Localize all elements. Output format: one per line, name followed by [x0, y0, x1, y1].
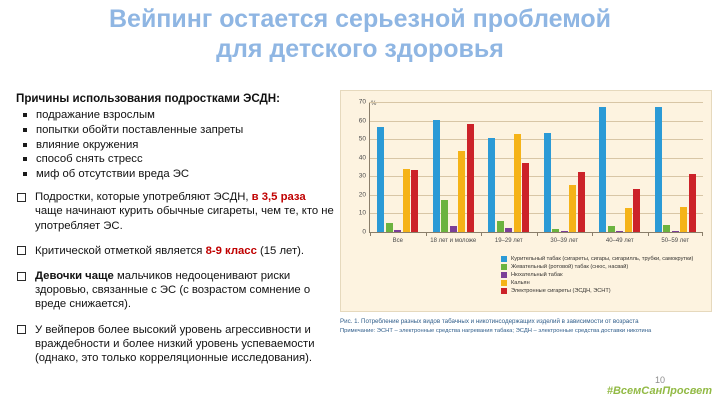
bar-group	[537, 103, 593, 232]
x-axis-tick	[702, 232, 703, 236]
bar	[488, 138, 495, 232]
list-item: миф об отсутствии вреда ЭС	[16, 167, 334, 181]
square-bullet-icon	[23, 128, 27, 132]
bar	[599, 107, 606, 232]
y-axis-tick-label: 30	[359, 173, 366, 180]
bar-group	[481, 103, 537, 232]
bar	[394, 230, 401, 232]
square-bullet-icon	[23, 172, 27, 176]
key-point-1-text-a: Подростки, которые употребляют ЭСДН,	[35, 191, 252, 203]
bar	[552, 229, 559, 232]
key-point-4-text: У вейперов более высокий уровень агресси…	[35, 324, 315, 364]
x-axis-tick-label: Все	[370, 238, 426, 250]
key-point-1-highlight: в 3,5 раза	[252, 191, 306, 203]
chart-legend: Курительный табак (сигареты, сигары, сиг…	[501, 256, 693, 296]
legend-swatch-icon	[501, 272, 507, 278]
bar-group	[592, 103, 648, 232]
square-bullet-icon	[23, 143, 27, 147]
bar	[608, 226, 615, 232]
page-title-line-1: Вейпинг остается серьезной проблемой	[0, 4, 720, 34]
key-point-3-emphasis: Девочки чаще	[35, 270, 114, 282]
x-axis-tick-labels: Все18 лет и моложе19–29 лет30–39 лет40–4…	[370, 238, 703, 250]
list-item: подражание взрослым	[16, 108, 334, 122]
bar	[467, 124, 474, 232]
x-axis-tick	[481, 232, 482, 236]
x-axis-tick	[537, 232, 538, 236]
legend-item: Электронные сигареты (ЭСДН, ЭСНТ)	[501, 288, 693, 294]
bar	[505, 228, 512, 232]
reasons-list: подражание взрослым попытки обойти поста…	[16, 108, 334, 181]
page-number: 10	[655, 375, 665, 385]
legend-item: Курительный табак (сигареты, сигары, сиг…	[501, 256, 693, 262]
bar	[689, 174, 696, 232]
checkbox-bullet-icon	[17, 246, 26, 255]
bar	[403, 169, 410, 232]
bar	[625, 208, 632, 232]
content-text-column: Причины использования подростками ЭСДН: …	[16, 92, 334, 376]
chart-figure-panel: % 010203040506070 Все18 лет и моложе19–2…	[340, 90, 712, 312]
y-axis-tick-label: 70	[359, 99, 366, 106]
legend-item-label: Нюхательный табак	[511, 272, 563, 278]
y-axis-tick-label: 50	[359, 136, 366, 143]
legend-swatch-icon	[501, 264, 507, 270]
legend-item: Кальян	[501, 280, 693, 286]
bar-group	[370, 103, 426, 232]
bar	[561, 231, 568, 232]
bar	[433, 120, 440, 232]
page-title: Вейпинг остается серьезной проблемой для…	[0, 4, 720, 64]
key-point-2-text-b: (15 лет).	[257, 245, 304, 257]
watermark-hashtag: #ВсемСанПросвет	[607, 385, 712, 397]
key-point-2: Критической отметкой является 8-9 класс …	[16, 244, 334, 258]
y-axis-tick-label: 60	[359, 117, 366, 124]
figure-caption-line-1: Рис. 1. Потребление разных видов табачны…	[340, 318, 718, 327]
bar	[522, 163, 529, 232]
bar	[411, 170, 418, 232]
bar	[450, 226, 457, 232]
square-bullet-icon	[23, 113, 27, 117]
y-axis-tick-label: 10	[359, 210, 366, 217]
bar	[544, 133, 551, 233]
key-point-1: Подростки, которые употребляют ЭСДН, в 3…	[16, 190, 334, 233]
page-title-line-2: для детского здоровья	[0, 34, 720, 64]
y-axis-tick-label: 20	[359, 191, 366, 198]
checkbox-bullet-icon	[17, 272, 26, 281]
legend-item-label: Курительный табак (сигареты, сигары, сиг…	[511, 256, 693, 262]
legend-item-label: Кальян	[511, 280, 530, 286]
bar-group	[426, 103, 482, 232]
bar	[672, 231, 679, 232]
key-point-2-highlight: 8-9 класс	[206, 245, 257, 257]
bar-group	[648, 103, 704, 232]
key-point-4: У вейперов более высокий уровень агресси…	[16, 323, 334, 366]
bar	[514, 134, 521, 232]
x-axis-tick-label: 40–49 лет	[592, 238, 648, 250]
y-axis-tick-label: 0	[362, 229, 366, 236]
bar	[458, 151, 465, 232]
list-item-label: миф об отсутствии вреда ЭС	[36, 168, 189, 180]
bar	[633, 189, 640, 232]
checkbox-bullet-icon	[17, 193, 26, 202]
reasons-heading: Причины использования подростками ЭСДН:	[16, 92, 334, 106]
bar	[386, 223, 393, 232]
chart-plot-area: 010203040506070	[369, 103, 703, 233]
legend-swatch-icon	[501, 256, 507, 262]
x-axis-tick-label: 50–59 лет	[648, 238, 704, 250]
figure-caption-note: Примечание: ЭСНТ – электронные средства …	[340, 327, 718, 336]
checkbox-bullet-icon	[17, 325, 26, 334]
bar	[569, 185, 576, 232]
bar	[680, 207, 687, 232]
key-point-1-text-b: чаще начинают курить обычные сигареты, ч…	[35, 205, 334, 231]
x-axis-tick-label: 30–39 лет	[537, 238, 593, 250]
list-item-label: способ снять стресс	[36, 153, 143, 165]
bar	[616, 231, 623, 232]
list-item: способ снять стресс	[16, 152, 334, 166]
figure-caption: Рис. 1. Потребление разных видов табачны…	[340, 318, 718, 335]
bar	[663, 225, 670, 232]
list-item-label: подражание взрослым	[36, 109, 155, 121]
legend-item: Нюхательный табак	[501, 272, 693, 278]
bar	[497, 221, 504, 232]
chart-plot-inner: 010203040506070	[369, 103, 703, 233]
y-axis-tick-label: 40	[359, 154, 366, 161]
key-point-3: Девочки чаще мальчиков недооценивают рис…	[16, 269, 334, 312]
x-axis-tick-label: 18 лет и моложе	[426, 238, 482, 250]
list-item-label: попытки обойти поставленные запреты	[36, 124, 243, 136]
square-bullet-icon	[23, 157, 27, 161]
bar	[377, 127, 384, 232]
legend-item-label: Жевательный (ротовой) табак (снюс, насва…	[511, 264, 628, 270]
list-item: влияние окружения	[16, 138, 334, 152]
x-axis-tick-label: 19–29 лет	[481, 238, 537, 250]
legend-swatch-icon	[501, 288, 507, 294]
x-axis-tick	[370, 232, 371, 236]
bar	[655, 107, 662, 232]
bar	[441, 200, 448, 232]
list-item: попытки обойти поставленные запреты	[16, 123, 334, 137]
legend-item: Жевательный (ротовой) табак (снюс, насва…	[501, 264, 693, 270]
bar	[578, 172, 585, 232]
x-axis-tick	[592, 232, 593, 236]
list-item-label: влияние окружения	[36, 139, 138, 151]
chart-bar-groups	[370, 103, 703, 232]
key-point-2-text-a: Критической отметкой является	[35, 245, 206, 257]
x-axis-tick	[426, 232, 427, 236]
legend-swatch-icon	[501, 280, 507, 286]
legend-item-label: Электронные сигареты (ЭСДН, ЭСНТ)	[511, 288, 611, 294]
x-axis-tick	[648, 232, 649, 236]
